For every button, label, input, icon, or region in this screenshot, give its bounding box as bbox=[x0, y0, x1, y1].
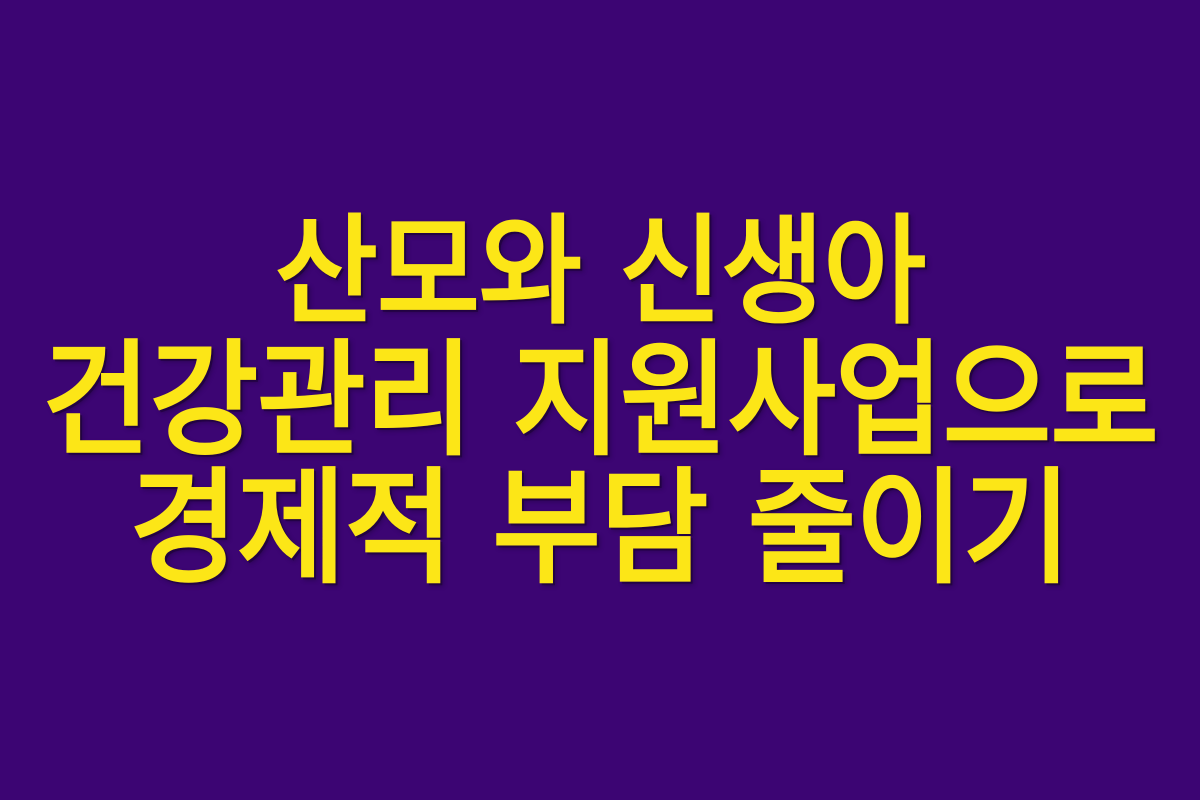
headline-title: 산모와 신생아 건강관리 지원사업으로 경제적 부담 줄이기 bbox=[0, 208, 1200, 592]
headline-line-3: 경제적 부담 줄이기 bbox=[130, 460, 1071, 596]
banner-card: 산모와 신생아 건강관리 지원사업으로 경제적 부담 줄이기 bbox=[0, 0, 1200, 800]
headline-line-1: 산모와 신생아 bbox=[275, 204, 925, 340]
headline-line-2: 건강관리 지원사업으로 bbox=[42, 332, 1158, 468]
